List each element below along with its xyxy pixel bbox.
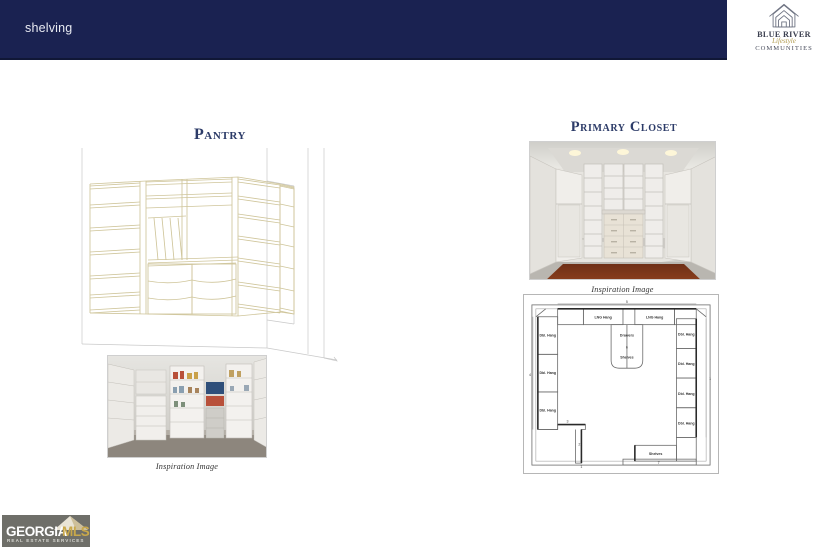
floorplan-dim-extra: 1 bbox=[580, 465, 582, 469]
pantry-photo-caption: Inspiration Image bbox=[107, 462, 267, 471]
floorplan-dim-4: 4 bbox=[529, 373, 531, 377]
floorplan-dim-2: 2 bbox=[578, 442, 580, 446]
pantry-section-title: Pantry bbox=[140, 126, 300, 144]
page-title: shelving bbox=[25, 21, 72, 35]
slide-page: shelving BLUE RIVER Lifestyle COMMUNITIE… bbox=[0, 0, 825, 549]
floorplan-label-top-1: LNG Hang bbox=[595, 316, 612, 320]
primary-closet-floor-plan: .fp { fill:none; stroke:#6a6a6a; stroke-… bbox=[523, 294, 719, 474]
pantry-inspiration-photo bbox=[107, 355, 267, 458]
floorplan-label-bottom-1: Shelves bbox=[649, 452, 662, 456]
floorplan-dim-5: 5 bbox=[626, 300, 628, 304]
header-underline bbox=[0, 58, 727, 60]
floorplan-dim-7: 7 bbox=[658, 461, 660, 465]
floorplan-label-left-3: Dbl. Hang bbox=[539, 409, 556, 413]
georgia-mls-watermark: GEORGIA MLS REAL ESTATE SERVICES bbox=[2, 515, 90, 547]
floorplan-label-right-1: Dbl. Hang bbox=[678, 333, 695, 337]
primary-closet-inspiration-photo bbox=[529, 141, 716, 280]
floorplan-label-right-2: Dbl. Hang bbox=[678, 362, 695, 366]
brand-script: Lifestyle bbox=[772, 38, 796, 45]
floorplan-label-right-3: Dbl. Hang bbox=[678, 392, 695, 396]
pantry-shelving-elevation-drawing bbox=[62, 148, 362, 368]
floorplan-dim-1: 1 bbox=[709, 377, 711, 381]
floorplan-label-left-2: Dbl. Hang bbox=[539, 371, 556, 375]
floorplan-label-left-1: Dbl. Hang bbox=[539, 334, 556, 338]
mls-word-georgia: GEORGIA bbox=[6, 524, 67, 539]
floorplan-label-top-2: LNG Hang bbox=[646, 316, 663, 320]
brand-sub: COMMUNITIES bbox=[755, 45, 813, 53]
floorplan-dim-3: 3 bbox=[567, 420, 569, 424]
closet-section-title: Primary Closet bbox=[531, 119, 717, 136]
closet-photo-caption: Inspiration Image bbox=[529, 285, 716, 294]
floorplan-label-island-1: Drawers bbox=[620, 334, 634, 338]
floorplan-dim-6: 6 bbox=[626, 345, 628, 349]
mls-tagline: REAL ESTATE SERVICES bbox=[7, 538, 85, 543]
header-bar bbox=[0, 0, 727, 58]
brand-logo: BLUE RIVER Lifestyle COMMUNITIES bbox=[748, 3, 820, 55]
floorplan-label-right-4: Dbl. Hang bbox=[678, 422, 695, 426]
mls-word-mls: MLS bbox=[62, 524, 89, 539]
floorplan-label-island-2: Shelves bbox=[620, 355, 633, 359]
house-outline-icon bbox=[764, 3, 804, 29]
